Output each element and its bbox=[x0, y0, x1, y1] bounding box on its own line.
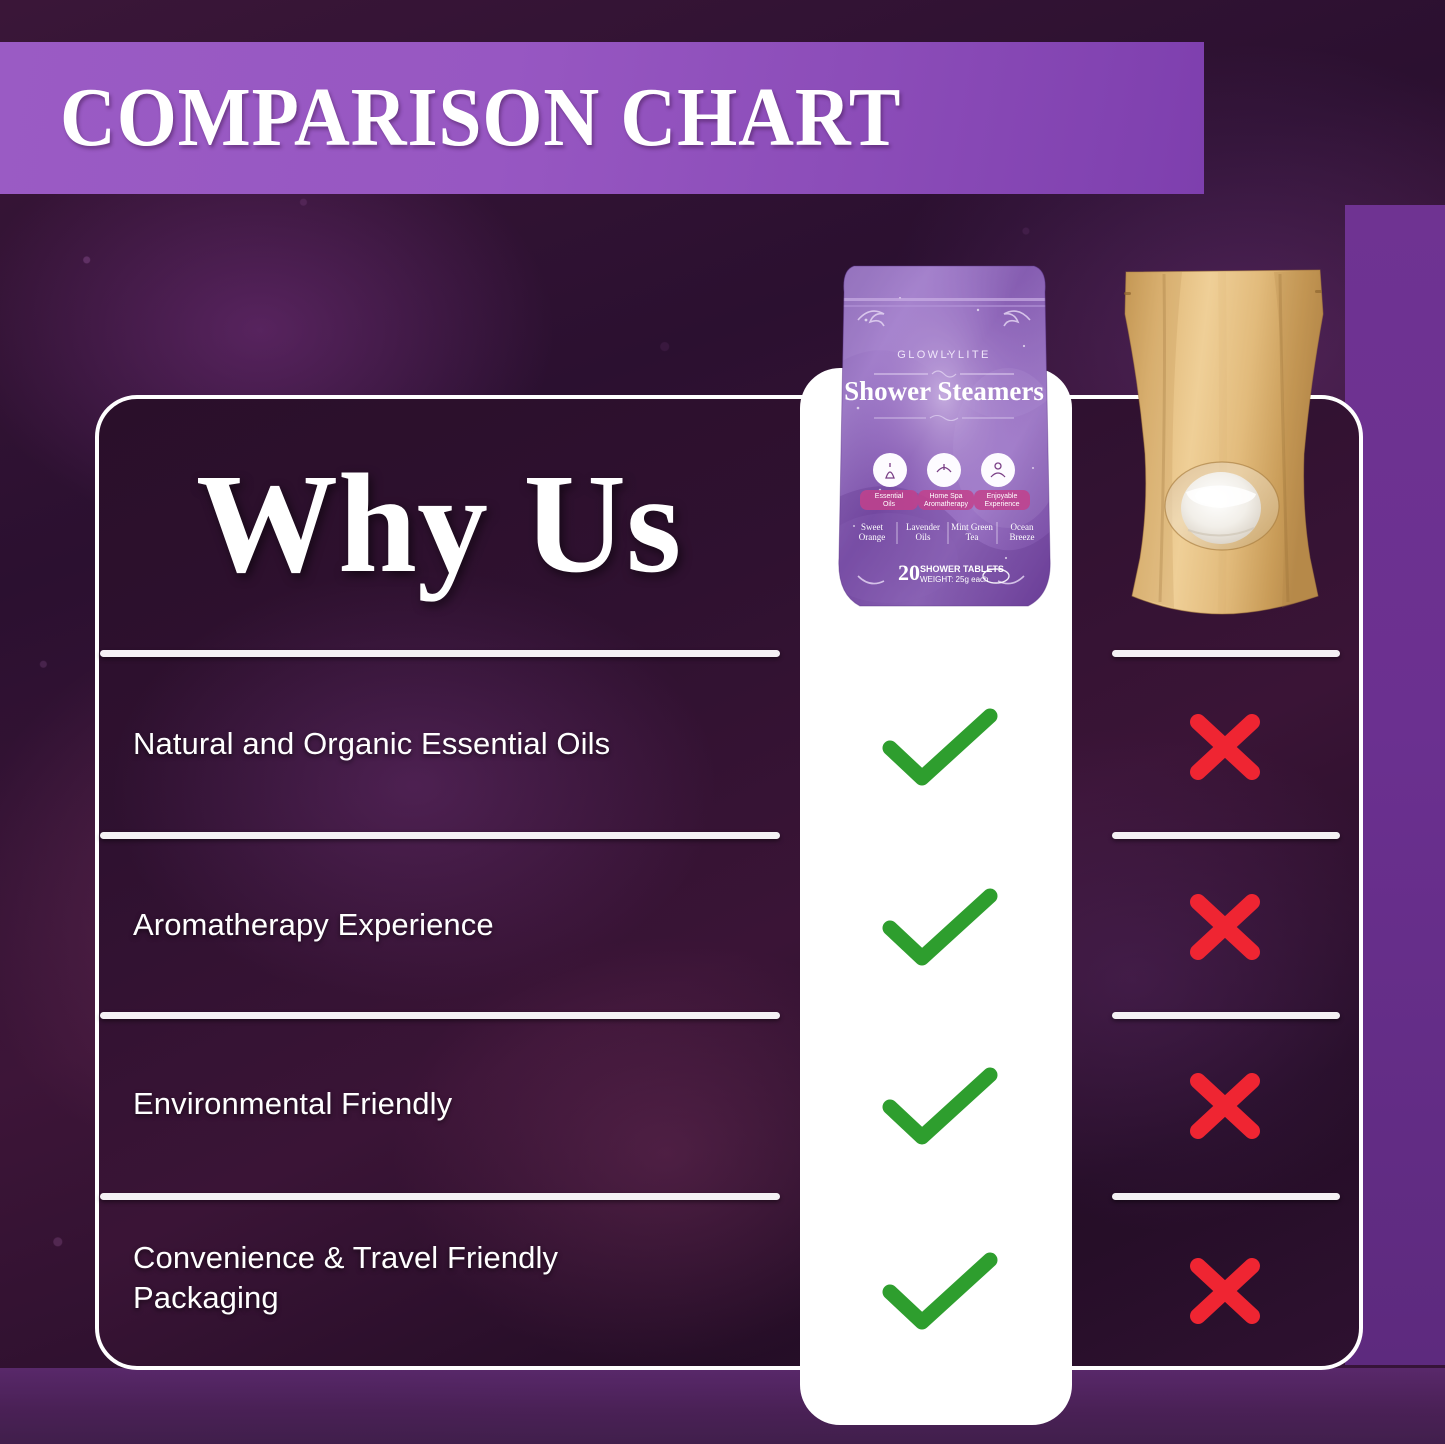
svg-text:Oils: Oils bbox=[915, 532, 931, 542]
cross-icon-3 bbox=[1140, 1065, 1310, 1147]
svg-text:Aromatherapy: Aromatherapy bbox=[924, 501, 968, 508]
check-icon-2 bbox=[860, 884, 1020, 970]
header-band: COMPARISON CHART bbox=[0, 42, 1204, 194]
row-divider-left-4 bbox=[100, 1193, 780, 1200]
page-title: COMPARISON CHART bbox=[60, 76, 901, 160]
svg-text:Orange: Orange bbox=[859, 532, 886, 542]
our-product-image: GLOWLYLITE Shower Steamers bbox=[828, 258, 1060, 620]
cross-icon-1 bbox=[1140, 706, 1310, 788]
row-divider-right-1 bbox=[1112, 650, 1340, 657]
row-divider-right-2 bbox=[1112, 832, 1340, 839]
comparison-chart-graphic: COMPARISON CHART Why Us bbox=[0, 0, 1445, 1444]
row-divider-right-4 bbox=[1112, 1193, 1340, 1200]
feature-label-3: Environmental Friendly bbox=[133, 1084, 773, 1124]
svg-text:Enjoyable: Enjoyable bbox=[987, 493, 1018, 500]
why-us-heading: Why Us bbox=[196, 452, 681, 594]
feature-label-2: Aromatherapy Experience bbox=[133, 905, 773, 945]
product-badge-icons bbox=[873, 453, 1015, 487]
row-divider-right-3 bbox=[1112, 1012, 1340, 1019]
svg-text:Home Spa: Home Spa bbox=[929, 493, 962, 500]
cross-icon-4 bbox=[1140, 1250, 1310, 1332]
competitor-window bbox=[1165, 462, 1279, 550]
row-divider-left-1 bbox=[100, 650, 780, 657]
product-weight: WEIGHT: 25g each bbox=[920, 575, 988, 584]
svg-text:Experience: Experience bbox=[984, 501, 1019, 508]
competitor-product-image bbox=[1104, 258, 1342, 620]
product-name: Shower Steamers bbox=[844, 376, 1044, 406]
svg-text:Ocean: Ocean bbox=[1011, 522, 1034, 532]
cross-icon-2 bbox=[1140, 886, 1310, 968]
svg-text:Lavender: Lavender bbox=[906, 522, 940, 532]
svg-text:Tea: Tea bbox=[966, 532, 979, 542]
check-icon-4 bbox=[860, 1248, 1020, 1334]
feature-label-1: Natural and Organic Essential Oils bbox=[133, 724, 773, 764]
svg-text:Sweet: Sweet bbox=[861, 522, 883, 532]
bottom-purple-panel bbox=[0, 1368, 1445, 1444]
svg-text:Essential: Essential bbox=[875, 493, 904, 500]
product-brand: GLOWLYLITE bbox=[897, 349, 990, 361]
row-divider-left-2 bbox=[100, 832, 780, 839]
check-icon-1 bbox=[860, 704, 1020, 790]
svg-text:Oils: Oils bbox=[883, 501, 896, 508]
product-count: 20 bbox=[898, 560, 920, 585]
feature-label-4: Convenience & Travel Friendly Packaging bbox=[133, 1238, 693, 1317]
row-divider-left-3 bbox=[100, 1012, 780, 1019]
check-icon-3 bbox=[860, 1063, 1020, 1149]
svg-text:Mint Green: Mint Green bbox=[951, 522, 993, 532]
svg-text:Breeze: Breeze bbox=[1010, 532, 1035, 542]
